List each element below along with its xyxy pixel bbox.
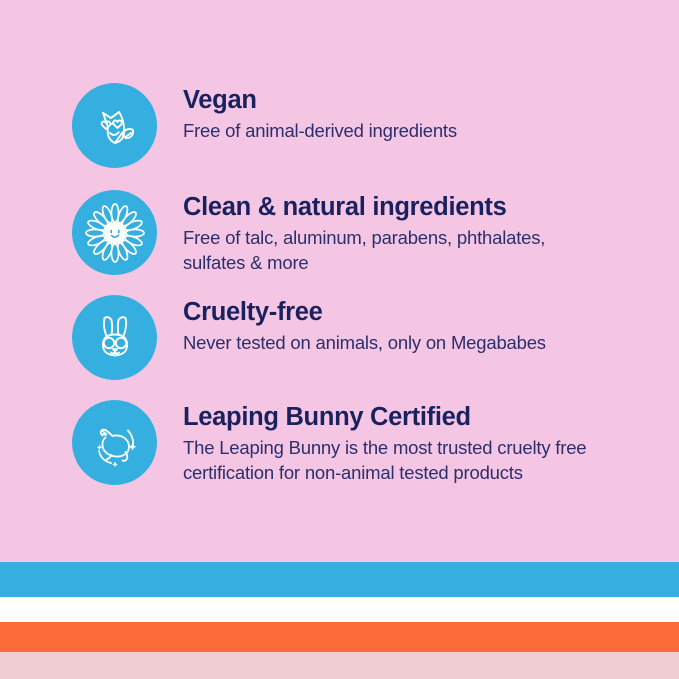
feature-item-vegan: Vegan Free of animal-derived ingredients (72, 83, 457, 168)
feature-text-block: Clean & natural ingredients Free of talc… (183, 190, 583, 275)
leaping-bunny-logo-icon (72, 400, 157, 485)
product-benefits-infographic: Vegan Free of animal-derived ingredients (0, 0, 679, 679)
feature-title: Leaping Bunny Certified (183, 404, 653, 431)
white-stripe (0, 597, 679, 622)
bunny-face-sunglasses-icon (72, 295, 157, 380)
feature-text-block: Vegan Free of animal-derived ingredients (183, 83, 457, 144)
feature-item-leaping-bunny-certified: Leaping Bunny Certified The Leaping Bunn… (72, 400, 653, 485)
daisy-flower-face-icon (72, 190, 157, 275)
feature-description: Free of animal-derived ingredients (183, 119, 457, 144)
orange-stripe (0, 622, 679, 652)
color-stripe-band (0, 562, 679, 679)
pink-stripe (0, 652, 679, 679)
feature-text-block: Cruelty-free Never tested on animals, on… (183, 295, 546, 356)
leaf-face-sunglasses-icon (72, 83, 157, 168)
feature-title: Vegan (183, 87, 457, 114)
feature-title: Clean & natural ingredients (183, 194, 583, 221)
feature-description: The Leaping Bunny is the most trusted cr… (183, 436, 653, 486)
feature-title: Cruelty-free (183, 299, 546, 326)
feature-text-block: Leaping Bunny Certified The Leaping Bunn… (183, 400, 653, 485)
blue-stripe (0, 562, 679, 597)
feature-description: Never tested on animals, only on Megabab… (183, 331, 546, 356)
feature-description: Free of talc, aluminum, parabens, phthal… (183, 226, 583, 276)
feature-item-clean-natural-ingredients: Clean & natural ingredients Free of talc… (72, 190, 583, 275)
feature-item-cruelty-free: Cruelty-free Never tested on animals, on… (72, 295, 546, 380)
features-list: Vegan Free of animal-derived ingredients (0, 0, 679, 562)
